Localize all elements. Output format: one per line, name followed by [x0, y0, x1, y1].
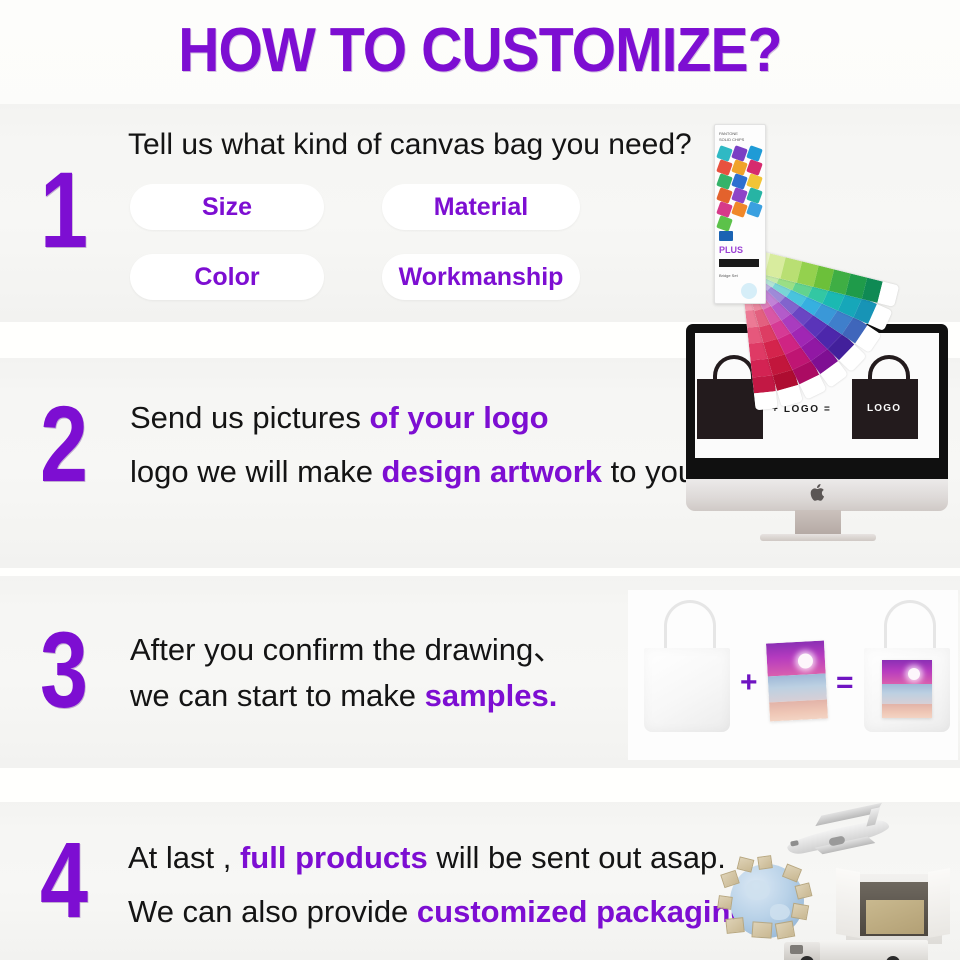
plus-symbol: + — [740, 668, 758, 698]
pantone-hex-swatch — [746, 145, 763, 162]
shipping-carton-flap-right — [928, 868, 950, 938]
step-2-line-1: Send us pictures of your logo — [130, 400, 549, 436]
step-3-line2-plain: we can start to make — [130, 678, 425, 713]
step-3-line-2: we can start to make samples. — [130, 678, 557, 714]
small-box — [791, 903, 809, 921]
small-box — [757, 855, 773, 870]
pantone-hex-swatch — [731, 173, 748, 190]
small-box — [775, 921, 796, 940]
pantone-hex-swatch — [731, 145, 748, 162]
pantone-hex-swatch — [716, 201, 733, 218]
option-pill-color[interactable]: Color — [130, 254, 324, 300]
printed-sun — [908, 668, 920, 680]
step-2-line1-plain: Send us pictures — [130, 400, 361, 435]
pantone-hex-swatch — [716, 187, 733, 204]
step-4-line-2: We can also provide customized packaging… — [128, 894, 758, 930]
blank-tote-bag — [644, 648, 730, 732]
pantone-fan-deck-image: PANTONE SOLID CHIPS PLUS Bridge Set — [700, 110, 950, 315]
step-4-line1-plain-a: At last , — [128, 840, 240, 875]
option-pill-material[interactable]: Material — [382, 184, 580, 230]
equals-symbol: = — [836, 668, 854, 698]
step-4-line1-highlight: full products — [240, 840, 428, 875]
pantone-hex-swatch — [716, 145, 733, 162]
step-4-line2-plain: We can also provide — [128, 894, 417, 929]
step-4-line1-plain-b: will be sent out asap. — [428, 840, 726, 875]
pantone-hex-swatch — [731, 187, 748, 204]
printed-sand — [882, 704, 932, 718]
globe-continent-2 — [770, 904, 790, 920]
pantone-hex-swatch — [746, 201, 763, 218]
printed-sea — [882, 684, 932, 704]
step-3-line-1: After you confirm the drawing、 — [130, 624, 564, 669]
page-title: HOW TO CUSTOMIZE? — [178, 15, 781, 86]
step-2-number: 2 — [40, 390, 88, 498]
infographic-page: HOW TO CUSTOMIZE? 1 Tell us what kind of… — [0, 0, 960, 960]
pantone-hex-swatch — [731, 201, 748, 218]
pantone-hex-swatch — [746, 187, 763, 204]
globe-continent-1 — [746, 880, 770, 900]
small-box — [795, 882, 813, 899]
page-title-container: HOW TO CUSTOMIZE? — [0, 0, 960, 100]
step-3-number: 3 — [40, 616, 88, 724]
artwork-sky — [766, 641, 826, 677]
apple-logo-icon — [810, 484, 824, 501]
pantone-hex-swatch — [716, 215, 733, 232]
delivery-truck-body — [818, 940, 928, 960]
pantone-hex-swatch — [731, 159, 748, 176]
option-pill-color-label: Color — [194, 263, 259, 292]
small-box — [751, 921, 772, 938]
pantone-hex-swatch — [716, 159, 733, 176]
band-gap-2 — [0, 568, 960, 576]
step-1-heading: Tell us what kind of canvas bag you need… — [128, 128, 692, 162]
printed-tote-handle — [884, 600, 936, 655]
artwork-sand — [769, 700, 828, 722]
small-box — [737, 856, 755, 872]
step-2-line2-plain-a: logo we will make — [130, 454, 382, 489]
shipping-logistics-image — [700, 800, 960, 960]
pantone-hex-swatch — [746, 159, 763, 176]
pantone-hex-swatch — [716, 173, 733, 190]
shipping-carton-contents — [866, 900, 924, 934]
equation-logo-word: LOGO — [784, 404, 820, 415]
blank-tote-handle — [664, 600, 716, 655]
step-1-number: 1 — [40, 156, 88, 264]
tote-printed-logo-text: LOGO — [867, 403, 901, 414]
imac-base — [760, 534, 876, 541]
pantone-hex-swatch — [746, 173, 763, 190]
pantone-cover-card: PANTONE SOLID CHIPS PLUS Bridge Set — [714, 124, 766, 304]
step-3-line2-highlight: samples. — [425, 678, 558, 713]
option-pill-size[interactable]: Size — [130, 184, 324, 230]
option-pill-workmanship-label: Workmanship — [399, 263, 564, 292]
step-4-number: 4 — [40, 826, 88, 934]
option-pill-workmanship[interactable]: Workmanship — [382, 254, 580, 300]
artwork-sea — [768, 673, 827, 703]
band-gap-3 — [0, 768, 960, 802]
small-box — [725, 917, 744, 934]
step-2-line-2: logo we will make design artwork to you. — [130, 454, 704, 490]
step-2-line1-highlight: of your logo — [361, 400, 549, 435]
truck-window — [790, 945, 803, 954]
printed-tote-artwork — [882, 660, 932, 718]
step-4-line-1: At last , full products will be sent out… — [128, 840, 726, 876]
artwork-print-sheet — [766, 641, 828, 722]
small-box — [717, 895, 733, 910]
option-pill-material-label: Material — [434, 193, 528, 222]
option-pill-size-label: Size — [202, 193, 252, 222]
shipping-carton-flap-left — [836, 868, 860, 938]
printed-sky — [882, 660, 932, 684]
tote-artwork-equation-image: + = — [628, 590, 958, 760]
step-2-line2-highlight: design artwork — [382, 454, 603, 489]
imac-stand — [795, 510, 841, 536]
equation-plus-logo-equals: + LOGO = — [772, 404, 832, 415]
